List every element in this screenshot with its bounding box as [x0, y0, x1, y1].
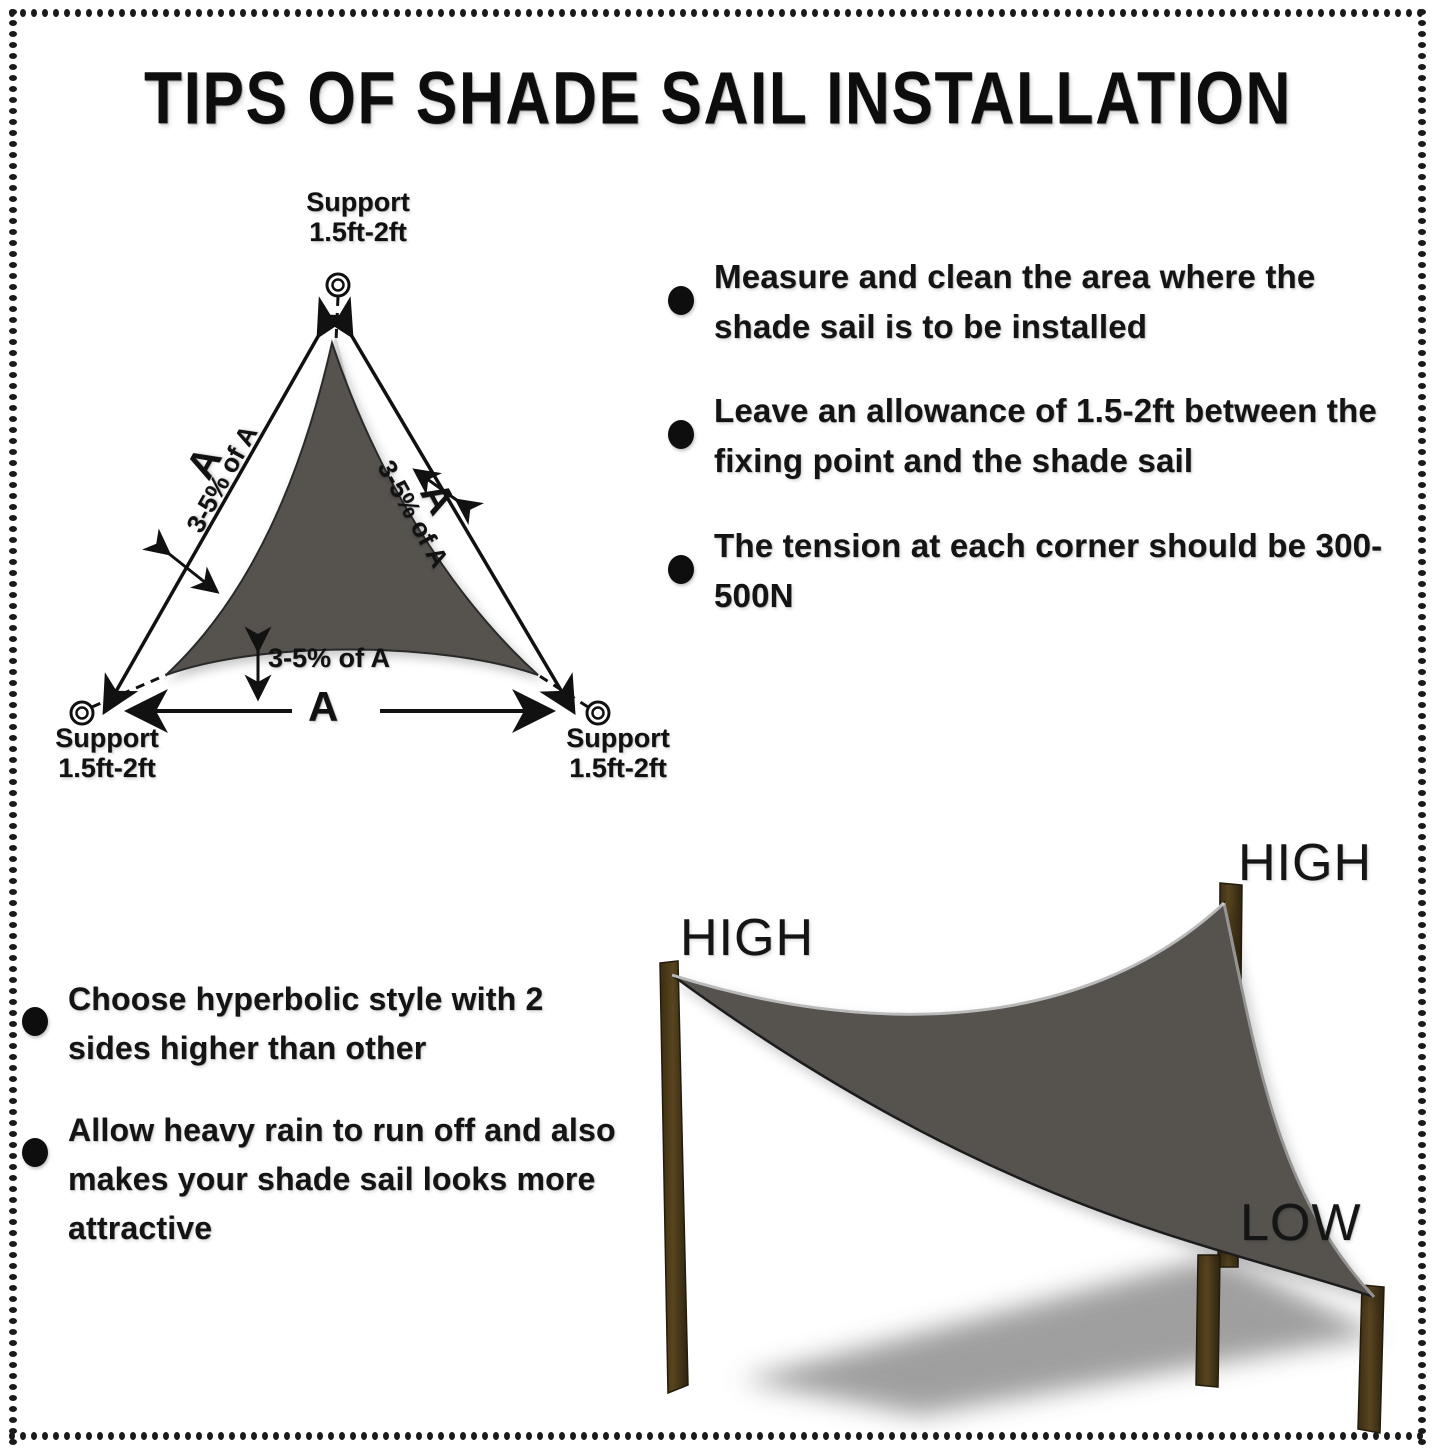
- bullet-dot-icon: [668, 555, 694, 584]
- eyelet-icon-right: [587, 702, 609, 724]
- ground-shadow: [740, 1255, 1380, 1415]
- label-support-right: Support 1.5ft-2ft: [518, 723, 718, 783]
- sail-illustration: HIGH HIGH LOW: [620, 815, 1420, 1435]
- tip-right-text: Leave an allowance of 1.5-2ft between th…: [714, 386, 1408, 486]
- bullet-dot-icon: [22, 1007, 48, 1036]
- tips-list-right: Measure and clean the area where the sha…: [668, 252, 1408, 655]
- label-support-left: Support 1.5ft-2ft: [12, 723, 202, 783]
- label-side-a-bottom: A: [308, 683, 338, 731]
- tether-line-left: [92, 675, 166, 707]
- tip-left-text: Choose hyperbolic style with 2 sides hig…: [68, 975, 622, 1072]
- pole-high-left: [660, 961, 688, 1393]
- tips-list-left: Choose hyperbolic style with 2 sides hig…: [22, 975, 622, 1286]
- triangle-diagram: Support 1.5ft-2ft Support 1.5ft-2ft Supp…: [20, 175, 680, 815]
- label-support-top: Support 1.5ft-2ft: [248, 187, 468, 247]
- label-high-right: HIGH: [1238, 833, 1372, 893]
- eyelet-icon-top: [327, 274, 349, 296]
- tip-left-item: Choose hyperbolic style with 2 sides hig…: [22, 975, 622, 1072]
- pole-mid: [1196, 1255, 1220, 1387]
- tip-right-text: Measure and clean the area where the sha…: [714, 252, 1408, 352]
- triangle-diagram-svg: [20, 175, 680, 815]
- page-title: TIPS OF SHADE SAIL INSTALLATION: [7, 56, 1429, 141]
- eyelet-icon-left: [71, 702, 93, 724]
- tip-left-item: Allow heavy rain to run off and also mak…: [22, 1106, 622, 1252]
- bullet-dot-icon: [668, 420, 694, 449]
- label-high-left: HIGH: [680, 908, 814, 968]
- label-curve-bottom: 3-5% of A: [268, 643, 390, 674]
- tip-right-item: The tension at each corner should be 300…: [668, 521, 1408, 621]
- label-low: LOW: [1240, 1193, 1361, 1253]
- tip-right-item: Measure and clean the area where the sha…: [668, 252, 1408, 352]
- pole-low-right: [1358, 1285, 1384, 1433]
- bullet-dot-icon: [22, 1138, 48, 1167]
- tether-line-top: [336, 297, 338, 341]
- tip-right-text: The tension at each corner should be 300…: [714, 521, 1408, 621]
- infographic-page: TIPS OF SHADE SAIL INSTALLATION: [0, 0, 1436, 1450]
- tip-right-item: Leave an allowance of 1.5-2ft between th…: [668, 386, 1408, 486]
- bullet-dot-icon: [668, 286, 694, 315]
- tip-left-text: Allow heavy rain to run off and also mak…: [68, 1106, 622, 1252]
